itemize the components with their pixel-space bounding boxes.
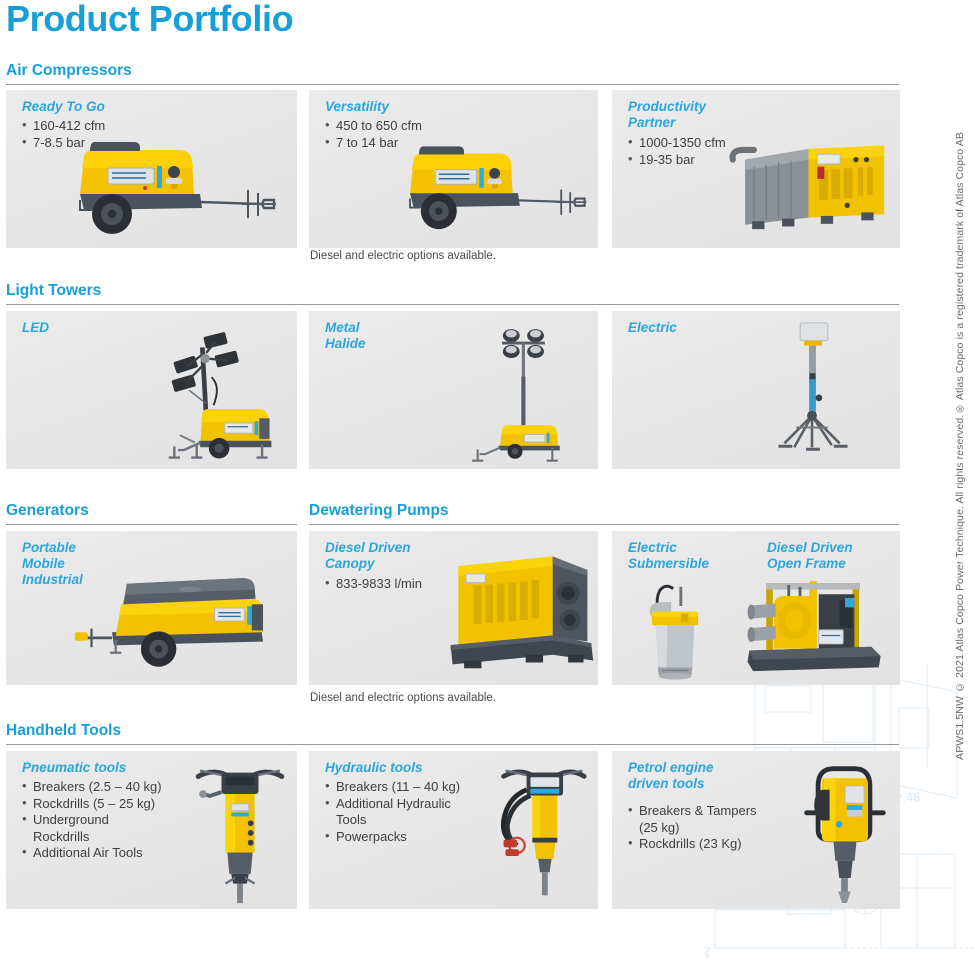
- spec-item-continuation: Rockdrills: [22, 829, 162, 846]
- panel-title-line-1: Electric: [628, 540, 677, 555]
- section-rule-light-towers: [6, 304, 899, 305]
- product-panel-pneumatic-tools[interactable]: Pneumatic tools Breakers (2.5 – 40 kg) R…: [6, 751, 297, 909]
- product-panel-versatility[interactable]: Versatility 450 to 650 cfm 7 to 14 bar: [309, 90, 598, 248]
- panel-title-line-2: Partner: [628, 115, 675, 130]
- spec-item-continuation: Tools: [325, 812, 460, 829]
- page-title: Product Portfolio: [6, 0, 293, 40]
- panel-title-right: Diesel Driven Open Frame: [767, 540, 853, 572]
- diesel-driven-open-frame-pump-image: [740, 575, 890, 681]
- diesel-driven-canopy-pump-image: [437, 545, 601, 675]
- spec-item: Breakers (11 – 40 kg): [325, 779, 460, 796]
- section-heading-light-towers: Light Towers: [6, 282, 101, 303]
- air-compressor-versatility-image: [383, 140, 608, 240]
- panel-title: Portable Mobile Industrial: [22, 540, 83, 588]
- product-panel-productivity-partner[interactable]: Productivity Partner 1000-1350 cfm 19-35…: [612, 90, 900, 248]
- generator-image: [68, 567, 294, 677]
- panel-title: Versatility: [325, 99, 389, 115]
- spec-item: Rockdrills (5 – 25 kg): [22, 796, 162, 813]
- panel-spec-list: 833-9833 l/min: [325, 576, 422, 593]
- panel-title-line-1: Productivity: [628, 99, 706, 114]
- spec-item: 450 to 650 cfm: [325, 118, 422, 135]
- panel-title: Metal Halide: [325, 320, 366, 352]
- spec-item: Underground: [22, 812, 162, 829]
- panel-spec-list: Breakers & Tampers (25 kg) Rockdrills (2…: [628, 803, 757, 853]
- panel-title: Productivity Partner: [628, 99, 706, 131]
- panel-title-line-1: Metal: [325, 320, 360, 335]
- panel-spec-list: Breakers (2.5 – 40 kg) Rockdrills (5 – 2…: [22, 779, 162, 862]
- air-compressor-ready-to-go-image: [50, 138, 300, 243]
- spec-item: 19-35 bar: [628, 152, 726, 169]
- product-panel-diesel-driven-canopy-pump[interactable]: Diesel Driven Canopy 833-9833 l/min: [309, 531, 598, 685]
- panel-title: LED: [22, 320, 49, 336]
- section-heading-handheld-tools: Handheld Tools: [6, 722, 121, 743]
- panel-title: Diesel Driven Canopy: [325, 540, 411, 572]
- product-panel-led-light-tower[interactable]: LED: [6, 311, 297, 469]
- hydraulic-breaker-image: [487, 761, 595, 903]
- panel-title-line-1: Diesel Driven: [767, 540, 853, 555]
- panel-title-line-2: Canopy: [325, 556, 375, 571]
- panel-title-line-2: Halide: [325, 336, 366, 351]
- panel-title-line-1: Portable: [22, 540, 76, 555]
- product-panel-petrol-engine-driven-tools[interactable]: Petrol engine driven tools Breakers & Ta…: [612, 751, 900, 909]
- panel-spec-list: Breakers (11 – 40 kg) Additional Hydraul…: [325, 779, 460, 845]
- section-rule-generators: [6, 524, 297, 525]
- panel-title: Petrol engine driven tools: [628, 760, 714, 792]
- section-rule-air-compressors: [6, 84, 899, 85]
- footnote-dewatering-pumps: Diesel and electric options available.: [310, 692, 496, 704]
- led-light-tower-image: [146, 325, 296, 465]
- panel-spec-list: 160-412 cfm 7-8.5 bar: [22, 118, 105, 151]
- section-rule-dewatering-pumps: [309, 524, 899, 525]
- petrol-engine-driven-breaker-image: [790, 761, 898, 903]
- product-panel-ready-to-go[interactable]: Ready To Go 160-412 cfm 7-8.5 bar: [6, 90, 297, 248]
- spec-item: Rockdrills (23 Kg): [628, 836, 757, 853]
- copyright-notice: APWS1.5NW © 2021 Atlas Copco Power Techn…: [947, 0, 973, 760]
- product-panel-metal-halide-light-tower[interactable]: Metal Halide: [309, 311, 598, 469]
- panel-title: Electric: [628, 320, 677, 336]
- spec-item-continuation: (25 kg): [628, 820, 757, 837]
- spec-item: 160-412 cfm: [22, 118, 105, 135]
- panel-title-line-1: Petrol engine: [628, 760, 714, 775]
- electric-light-tower-image: [752, 317, 872, 465]
- panel-title: Hydraulic tools: [325, 760, 423, 776]
- product-panel-generators[interactable]: Portable Mobile Industrial: [6, 531, 297, 685]
- spec-item: Breakers (2.5 – 40 kg): [22, 779, 162, 796]
- panel-title: Pneumatic tools: [22, 760, 126, 776]
- blueprint-dimension-label-2: 294: [705, 943, 715, 960]
- spec-item: Additional Air Tools: [22, 845, 162, 862]
- spec-item: Breakers & Tampers: [628, 803, 757, 820]
- product-portfolio-page: 532.48 294 Product Portfolio APWS1.5NW ©…: [0, 0, 975, 960]
- spec-item: Powerpacks: [325, 829, 460, 846]
- panel-title-line-2: Open Frame: [767, 556, 846, 571]
- spec-item: 1000-1350 cfm: [628, 135, 726, 152]
- footnote-air-compressors: Diesel and electric options available.: [310, 250, 496, 262]
- section-heading-dewatering-pumps: Dewatering Pumps: [309, 502, 449, 523]
- section-rule-handheld-tools: [6, 744, 899, 745]
- panel-spec-list: 450 to 650 cfm 7 to 14 bar: [325, 118, 422, 151]
- spec-item: Additional Hydraulic: [325, 796, 460, 813]
- panel-title-line-2: Mobile: [22, 556, 65, 571]
- product-panel-hydraulic-tools[interactable]: Hydraulic tools Breakers (11 – 40 kg) Ad…: [309, 751, 598, 909]
- copyright-text: APWS1.5NW © 2021 Atlas Copco Power Techn…: [954, 132, 966, 760]
- pneumatic-breaker-image: [186, 759, 294, 905]
- panel-title: Ready To Go: [22, 99, 105, 115]
- spec-item: 7 to 14 bar: [325, 135, 422, 152]
- spec-item: 7-8.5 bar: [22, 135, 105, 152]
- spec-item: 833-9833 l/min: [325, 576, 422, 593]
- metal-halide-light-tower-image: [459, 319, 599, 467]
- panel-title-line-2: driven tools: [628, 776, 705, 791]
- panel-title-line-3: Industrial: [22, 572, 83, 587]
- panel-spec-list: 1000-1350 cfm 19-35 bar: [628, 135, 726, 168]
- section-heading-generators: Generators: [6, 502, 89, 523]
- electric-submersible-pump-image: [638, 581, 716, 681]
- air-compressor-productivity-partner-image: [724, 132, 900, 240]
- panel-title-line-2: Submersible: [628, 556, 709, 571]
- panel-title-left: Electric Submersible: [628, 540, 709, 572]
- section-heading-air-compressors: Air Compressors: [6, 62, 132, 83]
- panel-title-line-1: Diesel Driven: [325, 540, 411, 555]
- product-panel-submersible-and-open-frame-pumps[interactable]: Electric Submersible Diesel Driven Open …: [612, 531, 900, 685]
- product-panel-electric-light-tower[interactable]: Electric: [612, 311, 900, 469]
